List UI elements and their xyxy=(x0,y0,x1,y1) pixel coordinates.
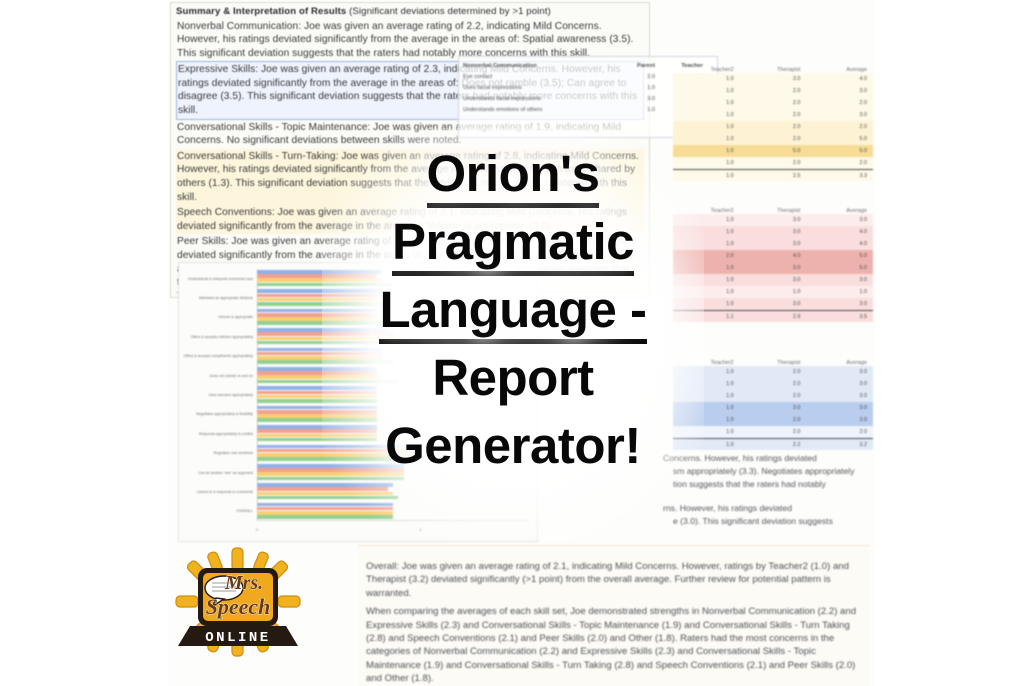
summary-heading-bold: Summary & Interpretation of Results xyxy=(176,6,346,17)
cell: 3.0 xyxy=(806,217,873,223)
column-header-average: Average xyxy=(806,208,873,214)
chart-bar xyxy=(257,507,393,511)
table-row: 1.02.03.0 xyxy=(673,390,873,402)
cell: 4.0 xyxy=(806,76,873,82)
overlay-skill-v1: 1.0 xyxy=(613,85,661,91)
cell: 3.0 xyxy=(806,405,873,411)
overall-summary-block: Overall: Joe was given an average rating… xyxy=(358,545,870,686)
cell: 3.0 xyxy=(740,277,807,283)
cell: 2.0 xyxy=(740,88,807,94)
table-row: 1.02.02.0 xyxy=(673,121,873,133)
chart-category-label: Negotiates appropriately & flexibility xyxy=(196,412,253,416)
overlay-skill-v1: 2.0 xyxy=(613,74,661,80)
chart-bar xyxy=(257,496,398,500)
cell: 1.0 xyxy=(673,100,740,106)
chart-category-label: Uses sarcasm appropriately xyxy=(208,393,253,397)
chart-bar xyxy=(257,515,393,519)
title-line-text: Language - xyxy=(379,281,646,344)
cell: 3.0 xyxy=(740,217,807,223)
cell: 5.0 xyxy=(806,148,873,154)
table-row: 1.02.02.0 xyxy=(673,97,873,109)
cell: 2.0 xyxy=(806,429,873,435)
table-row: 1.02.02.0 xyxy=(673,426,873,438)
side-note: rns. However, his ratings deviated xyxy=(663,503,875,515)
title-line-text: Pragmatic xyxy=(392,213,634,276)
cell: 2.0 xyxy=(740,160,807,166)
cell: 2.0 xyxy=(806,100,873,106)
overlay-skill-label: Understands facial expressions xyxy=(463,96,613,102)
cell: 4.0 xyxy=(740,253,807,259)
cell: 2.0 xyxy=(740,100,807,106)
table-row: 1.01.01.0 xyxy=(673,286,873,298)
cell: 3.0 xyxy=(740,265,807,271)
cell: 1.0 xyxy=(673,88,740,94)
column-header-teacher2: Teacher2 xyxy=(673,67,740,73)
chart-category-label: Responds appropriately to conflict xyxy=(199,432,253,436)
chart-bar xyxy=(257,492,393,496)
cell: 3.0 xyxy=(740,241,807,247)
table-row: 1.03.03.0 xyxy=(673,214,873,226)
cell: 2.0 xyxy=(740,393,807,399)
table-row: 1.02.03.0 xyxy=(673,378,873,390)
cell: 5.0 xyxy=(806,265,873,271)
chart-category-label: Does not ramble on and on xyxy=(210,374,253,378)
overlay-skill-v1: 3.0 xyxy=(613,96,661,102)
table-total-row: 1.12.93.5 xyxy=(673,310,873,322)
column-header-therapist: Therapist xyxy=(740,67,807,73)
cell: 2.0 xyxy=(740,429,807,435)
table-header-row: Teacher2 Therapist Average xyxy=(673,355,873,366)
cell: 4.0 xyxy=(806,229,873,235)
chart-category-label: Offers & accepts criticism appropriately xyxy=(191,335,253,339)
table-row: 1.03.04.0 xyxy=(673,73,873,85)
chart-category-label: OVERALL xyxy=(236,509,253,513)
cell: 3.0 xyxy=(806,112,873,118)
cell: 3.2 xyxy=(806,442,873,448)
table-row: 1.03.04.0 xyxy=(673,226,873,238)
overlay-col-parent: Parent xyxy=(613,63,661,69)
cell: 3.0 xyxy=(740,301,807,307)
chart-bar xyxy=(257,503,393,507)
table-row: 1.05.05.0 xyxy=(673,145,873,157)
cell: 2.0 xyxy=(740,112,807,118)
ratings-table-conversational: Teacher2 Therapist Average 1.02.03.0 1.0… xyxy=(673,355,873,450)
side-note: tion suggests that the raters had notabl… xyxy=(673,479,875,491)
thumbnail-canvas: Summary & Interpretation of Results (Sig… xyxy=(0,0,1024,686)
cell: 3.0 xyxy=(806,88,873,94)
cell: 3.0 xyxy=(806,277,873,283)
cell: 2.0 xyxy=(806,160,873,166)
table-row: 1.02.03.0 xyxy=(673,85,873,97)
cell: 2.0 xyxy=(740,381,807,387)
cell: 3.0 xyxy=(740,405,807,411)
table-row: 1.03.04.0 xyxy=(673,238,873,250)
title-line-text: Generator! xyxy=(385,417,641,474)
cell: 1.0 xyxy=(673,124,740,130)
cell: 2.0 xyxy=(740,124,807,130)
chart-bar xyxy=(257,511,393,515)
chart-bar xyxy=(257,483,393,487)
summary-heading: Summary & Interpretation of Results (Sig… xyxy=(176,6,644,19)
column-header-average: Average xyxy=(806,67,873,73)
cell: 3.5 xyxy=(806,314,873,320)
table-header-row: Teacher2 Therapist Average xyxy=(673,203,873,214)
table-row: 1.02.05.0 xyxy=(673,133,873,145)
cell: 1.0 xyxy=(806,289,873,295)
cell: 3.0 xyxy=(806,393,873,399)
column-header-therapist: Therapist xyxy=(740,360,807,366)
table-row: 1.03.03.0 xyxy=(673,402,873,414)
chart-category-label: Volume is appropriate xyxy=(218,315,253,319)
overlay-heading: Nonverbal Communication xyxy=(463,63,613,69)
logo-brand-top: Mrs. xyxy=(224,572,263,594)
title-line: Pragmatic xyxy=(338,208,688,276)
title-line-text: Report xyxy=(432,349,593,406)
title-line-text: Orion's xyxy=(427,145,600,208)
overlay-skill-label: Eye contact xyxy=(463,74,613,80)
column-header-average: Average xyxy=(806,360,873,366)
cell: 3.0 xyxy=(806,369,873,375)
cell: 1.0 xyxy=(740,289,807,295)
cell: 2.0 xyxy=(740,369,807,375)
table-row: 1.02.03.0 xyxy=(673,414,873,426)
title-line: Report xyxy=(338,344,688,412)
cell: 5.0 xyxy=(806,253,873,259)
logo-brand-bottom: ONLINE xyxy=(205,630,270,646)
column-header-therapist: Therapist xyxy=(740,208,807,214)
cell: 5.0 xyxy=(806,136,873,142)
chart-category-label: Understands & interprets nonverbal cues xyxy=(188,277,253,281)
cell: 3.0 xyxy=(806,417,873,423)
title-line: Language - xyxy=(338,276,688,344)
page-title: Orion's Pragmatic Language - Report Gene… xyxy=(338,140,688,480)
chart-x-tick: 0 xyxy=(256,527,258,532)
chart-bar xyxy=(257,487,388,491)
comparison-paragraph: When comparing the averages of each skil… xyxy=(366,605,862,685)
summary-heading-note: (Significant deviations determined by >1… xyxy=(349,6,551,17)
table-total-row: 1.02.23.2 xyxy=(673,438,873,450)
title-line: Orion's xyxy=(338,140,688,208)
cell: 1.0 xyxy=(673,76,740,82)
chart-bar-group xyxy=(257,503,529,521)
chart-category-label: Offers & accepts compliments appropriate… xyxy=(184,354,253,358)
side-note: Concerns. However, his ratings deviated xyxy=(663,453,875,465)
side-note: e (3.0). This significant deviation sugg… xyxy=(673,516,875,528)
table-total-row: 1.02.53.3 xyxy=(673,169,873,181)
cell: 3.3 xyxy=(806,173,873,179)
cell: 3.0 xyxy=(740,229,807,235)
overall-paragraph: Overall: Joe was given an average rating… xyxy=(366,560,862,600)
cell: 2.0 xyxy=(740,136,807,142)
chart-bar-group xyxy=(257,483,529,501)
cell: 2.5 xyxy=(740,173,807,179)
table-header-row: Teacher2 Therapist Average xyxy=(673,62,873,73)
cell: 3.0 xyxy=(806,381,873,387)
logo-brand-mid: Speech xyxy=(206,594,271,619)
table-row: 1.02.03.0 xyxy=(673,109,873,121)
chart-category-row: OVERALL xyxy=(257,502,529,521)
cell: 3.0 xyxy=(740,76,807,82)
cell: 1.0 xyxy=(673,112,740,118)
table-row: 1.03.05.0 xyxy=(673,262,873,274)
table-row: 1.02.03.0 xyxy=(673,366,873,378)
table-row: 1.02.02.0 xyxy=(673,157,873,169)
ratings-table-nonverbal: Teacher2 Therapist Average 1.03.04.0 1.0… xyxy=(673,62,873,181)
chart-category-row: Listens to & responds to comments xyxy=(257,482,529,501)
cell: 2.9 xyxy=(740,314,807,320)
side-note: sm appropriately (3.3). Negotiates appro… xyxy=(673,466,875,478)
chart-category-label: Listens to & responds to comments xyxy=(197,490,253,494)
cell: 4.0 xyxy=(806,241,873,247)
cell: 3.0 xyxy=(806,301,873,307)
chart-category-label: Can let another "win" an argument xyxy=(198,471,253,475)
cell: 2.0 xyxy=(740,417,807,423)
overlay-skill-v1: 1.0 xyxy=(613,107,661,113)
cell: 5.0 xyxy=(740,148,807,154)
chart-category-label: Maintains an appropriate distance xyxy=(199,296,253,300)
logo-svg: Mrs. Speech ONLINE xyxy=(172,546,304,658)
overlay-skill-label: Understands emotions of others xyxy=(463,107,613,113)
chart-x-tick: 3 xyxy=(419,527,421,532)
mrs-speech-online-logo: Mrs. Speech ONLINE xyxy=(172,546,304,658)
title-line: Generator! xyxy=(338,412,688,480)
overlay-skill-label: Uses facial expressions xyxy=(463,85,613,91)
summary-row: Nonverbal Communication: Joe was given a… xyxy=(176,19,644,62)
table-row: 1.03.03.0 xyxy=(673,274,873,286)
cell: 2.2 xyxy=(740,442,807,448)
ratings-table-expressive: Teacher2 Therapist Average 1.03.03.0 1.0… xyxy=(673,203,873,322)
table-row: 1.03.03.0 xyxy=(673,298,873,310)
cell: 2.0 xyxy=(806,124,873,130)
chart-category-label: Regulates own emotions xyxy=(214,451,253,455)
table-row: 2.04.05.0 xyxy=(673,250,873,262)
